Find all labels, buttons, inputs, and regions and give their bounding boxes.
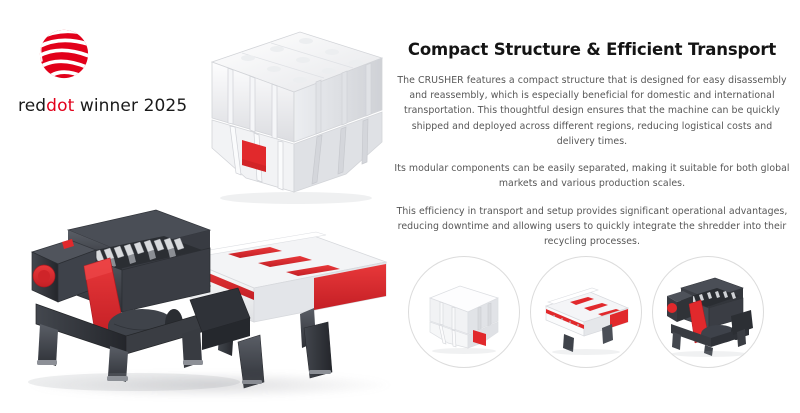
feature-copy-block: Compact Structure & Efficient Transport … [392, 40, 792, 261]
hopper-module-thumbnail[interactable] [408, 256, 520, 368]
reddot-sphere-logo [36, 26, 92, 82]
paragraph-1: The CRUSHER features a compact structure… [392, 73, 792, 149]
conveyor-table-thumbnail[interactable] [530, 256, 642, 368]
wordmark-winner-year: winner 2025 [74, 96, 187, 116]
reddot-wordmark: reddot winner 2025 [18, 96, 188, 116]
hopper-module-render [196, 22, 392, 212]
page-title: Compact Structure & Efficient Transport [392, 40, 792, 59]
product-feature-slide: reddot winner 2025 [0, 0, 800, 413]
paragraph-3: This efficiency in transport and setup p… [392, 204, 792, 250]
wordmark-dot: dot [46, 96, 74, 116]
shredder-with-conveyor-render [14, 196, 394, 396]
wordmark-red: red [18, 96, 46, 116]
floor-shadow [30, 372, 390, 398]
paragraph-2: Its modular components can be easily sep… [392, 161, 792, 191]
shredder-unit-thumbnail[interactable] [652, 256, 764, 368]
component-thumbnail-row [408, 256, 764, 368]
reddot-award-badge: reddot winner 2025 [18, 26, 188, 116]
